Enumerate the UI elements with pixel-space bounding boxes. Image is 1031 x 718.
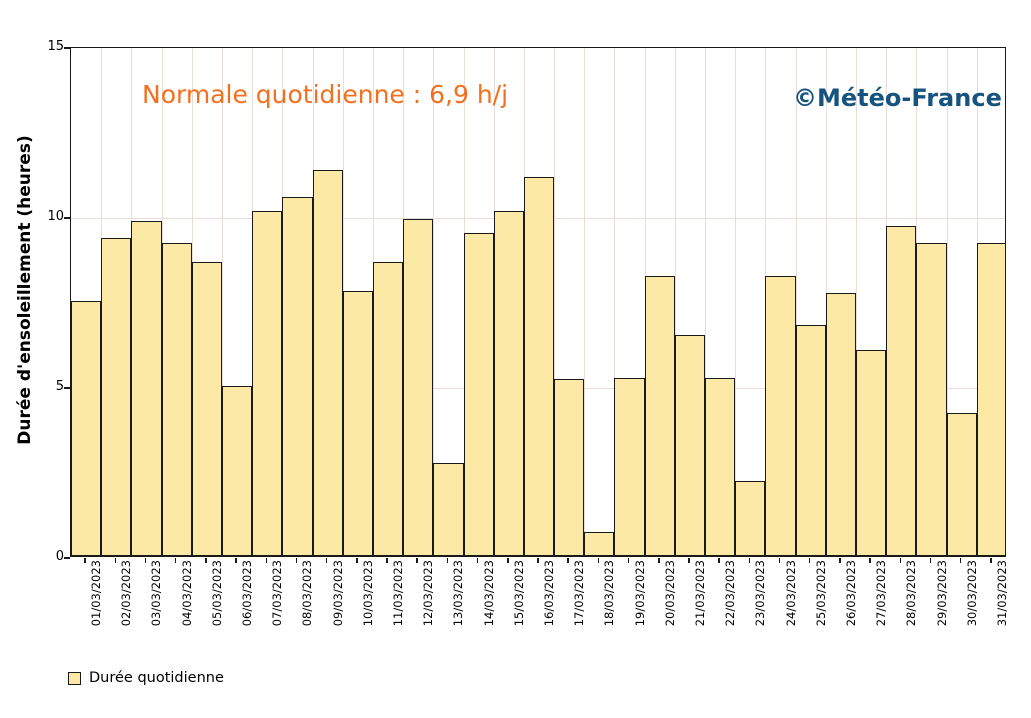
x-tick-mark [356, 558, 358, 563]
x-tick-mark [930, 558, 932, 563]
bar [947, 413, 977, 556]
x-tick-mark [115, 558, 117, 563]
x-tick-label: 12/03/2023 [422, 560, 434, 650]
sunshine-duration-bar-chart: Durée d'ensoleillement (heures) 051015 0… [0, 0, 1031, 718]
x-tick-mark [839, 558, 841, 563]
x-tick-label: 29/03/2023 [936, 560, 948, 650]
bar [494, 211, 524, 556]
bar [675, 335, 705, 556]
x-tick-label: 21/03/2023 [694, 560, 706, 650]
bar [101, 238, 131, 556]
x-tick-mark [900, 558, 902, 563]
x-tick-label: 03/03/2023 [150, 560, 162, 650]
legend-swatch-icon [68, 672, 81, 685]
y-tick-label: 15 [26, 40, 64, 53]
y-tick-label: 0 [26, 550, 64, 563]
x-tick-label: 13/03/2023 [452, 560, 464, 650]
x-tick-mark [296, 558, 298, 563]
x-tick-label: 31/03/2023 [996, 560, 1008, 650]
legend-label-duree-quotidienne: Durée quotidienne [89, 671, 224, 686]
x-tick-mark [779, 558, 781, 563]
x-tick-label: 04/03/2023 [181, 560, 193, 650]
x-tick-label: 09/03/2023 [332, 560, 344, 650]
bar [343, 291, 373, 556]
bar [826, 293, 856, 557]
x-tick-mark [749, 558, 751, 563]
bar [554, 379, 584, 556]
plot-area [70, 47, 1006, 557]
x-tick-mark [567, 558, 569, 563]
x-tick-label: 25/03/2023 [815, 560, 827, 650]
x-tick-mark [447, 558, 449, 563]
x-tick-mark [809, 558, 811, 563]
x-tick-mark [537, 558, 539, 563]
x-tick-mark [205, 558, 207, 563]
x-tick-mark [658, 558, 660, 563]
bar [282, 197, 312, 556]
x-tick-label: 19/03/2023 [634, 560, 646, 650]
chart-legend: Durée quotidienne [68, 671, 224, 686]
bar [162, 243, 192, 556]
x-tick-mark [326, 558, 328, 563]
x-tick-label: 05/03/2023 [211, 560, 223, 650]
bar [252, 211, 282, 556]
x-axis-labels: 01/03/202302/03/202303/03/202304/03/2023… [70, 558, 1006, 658]
x-tick-label: 22/03/2023 [724, 560, 736, 650]
x-tick-label: 01/03/2023 [90, 560, 102, 650]
x-tick-label: 23/03/2023 [754, 560, 766, 650]
bar [222, 386, 252, 556]
x-tick-label: 18/03/2023 [603, 560, 615, 650]
bar [645, 276, 675, 557]
y-tick-label: 10 [26, 210, 64, 223]
x-tick-mark [960, 558, 962, 563]
y-tick-label: 5 [26, 380, 64, 393]
x-tick-label: 28/03/2023 [905, 560, 917, 650]
bar [614, 378, 644, 557]
bar [433, 463, 463, 557]
x-tick-mark [507, 558, 509, 563]
x-tick-label: 08/03/2023 [301, 560, 313, 650]
x-tick-label: 26/03/2023 [845, 560, 857, 650]
x-tick-mark [386, 558, 388, 563]
x-tick-mark [145, 558, 147, 563]
x-tick-mark [175, 558, 177, 563]
x-tick-label: 02/03/2023 [120, 560, 132, 650]
x-tick-label: 24/03/2023 [785, 560, 797, 650]
bar [916, 243, 946, 556]
bar [403, 219, 433, 556]
x-tick-mark [416, 558, 418, 563]
bar [886, 226, 916, 556]
x-tick-label: 11/03/2023 [392, 560, 404, 650]
x-tick-label: 17/03/2023 [573, 560, 585, 650]
bar [856, 350, 886, 556]
bar [977, 243, 1006, 556]
annotation-copyright-meteo-france: ©Météo-France [793, 84, 1002, 112]
x-tick-label: 07/03/2023 [271, 560, 283, 650]
x-tick-mark [718, 558, 720, 563]
x-tick-mark [477, 558, 479, 563]
x-tick-label: 27/03/2023 [875, 560, 887, 650]
x-tick-label: 06/03/2023 [241, 560, 253, 650]
x-tick-label: 16/03/2023 [543, 560, 555, 650]
bar [796, 325, 826, 556]
bar [765, 276, 795, 557]
x-tick-mark [990, 558, 992, 563]
x-tick-mark [598, 558, 600, 563]
bar [524, 177, 554, 556]
bar [735, 481, 765, 556]
bar [373, 262, 403, 556]
x-tick-mark [688, 558, 690, 563]
x-tick-mark [266, 558, 268, 563]
x-tick-mark [235, 558, 237, 563]
x-tick-label: 30/03/2023 [966, 560, 978, 650]
bar [584, 532, 614, 556]
annotation-normale-quotidienne: Normale quotidienne : 6,9 h/j [142, 80, 508, 109]
x-tick-label: 20/03/2023 [664, 560, 676, 650]
bar-series-duree-quotidienne [71, 48, 1005, 556]
x-tick-label: 14/03/2023 [483, 560, 495, 650]
bar [464, 233, 494, 556]
bar [71, 301, 101, 556]
x-tick-mark [84, 558, 86, 563]
bar [131, 221, 161, 556]
x-tick-label: 15/03/2023 [513, 560, 525, 650]
x-tick-mark [869, 558, 871, 563]
bar [705, 378, 735, 557]
bar [192, 262, 222, 556]
y-axis-ticks: 051015 [20, 47, 64, 557]
x-tick-label: 10/03/2023 [362, 560, 374, 650]
bar [313, 170, 343, 556]
x-tick-mark [628, 558, 630, 563]
